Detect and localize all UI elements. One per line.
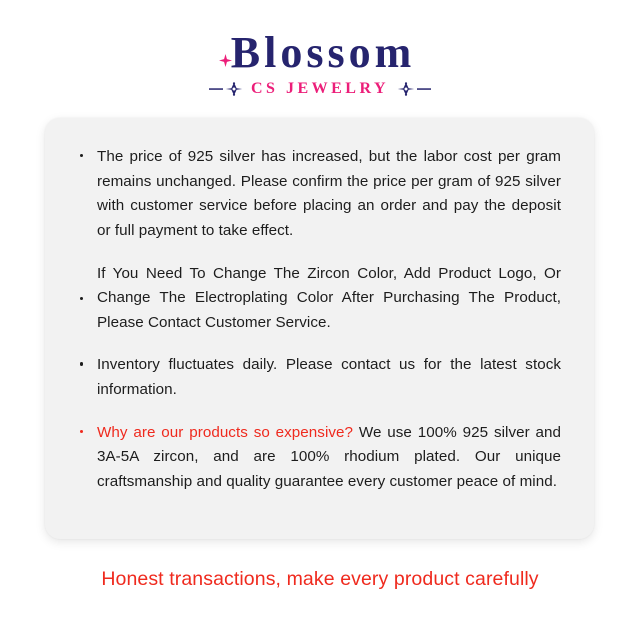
sparkle-diamond-icon: [219, 54, 232, 67]
bullet-dot-icon: [80, 297, 83, 300]
notice-item-inventory: Inventory fluctuates daily. Please conta…: [78, 353, 561, 402]
notice-highlight: Why are our products so expensive?: [97, 424, 353, 441]
brand-wordmark: Blossom: [225, 30, 415, 76]
notice-item-price: The price of 925 silver has increased, b…: [78, 145, 561, 244]
notice-card: The price of 925 silver has increased, b…: [45, 118, 594, 539]
diamond-flourish-icon-right: [397, 80, 431, 98]
notice-text: Inventory fluctuates daily. Please conta…: [97, 356, 561, 398]
bullet-dot-icon: [80, 430, 83, 433]
footer-slogan: Honest transactions, make every product …: [0, 568, 640, 591]
bullet-dot-icon: [80, 362, 83, 365]
bullet-dot-icon: [80, 154, 83, 157]
notice-list: The price of 925 silver has increased, b…: [78, 145, 561, 495]
brand-subtitle-row: CS JEWELRY: [0, 80, 640, 98]
diamond-flourish-icon-left: [209, 80, 243, 98]
brand-name: Blossom: [231, 28, 415, 77]
brand-subtitle: CS JEWELRY: [251, 80, 389, 98]
brand-logo: Blossom CS JEWELRY: [0, 0, 640, 98]
notice-text: The price of 925 silver has increased, b…: [97, 148, 561, 239]
notice-item-pricing-rationale: Why are our products so expensive? We us…: [78, 421, 561, 495]
notice-text: If You Need To Change The Zircon Color, …: [97, 265, 561, 331]
notice-item-customization: If You Need To Change The Zircon Color, …: [78, 262, 561, 336]
